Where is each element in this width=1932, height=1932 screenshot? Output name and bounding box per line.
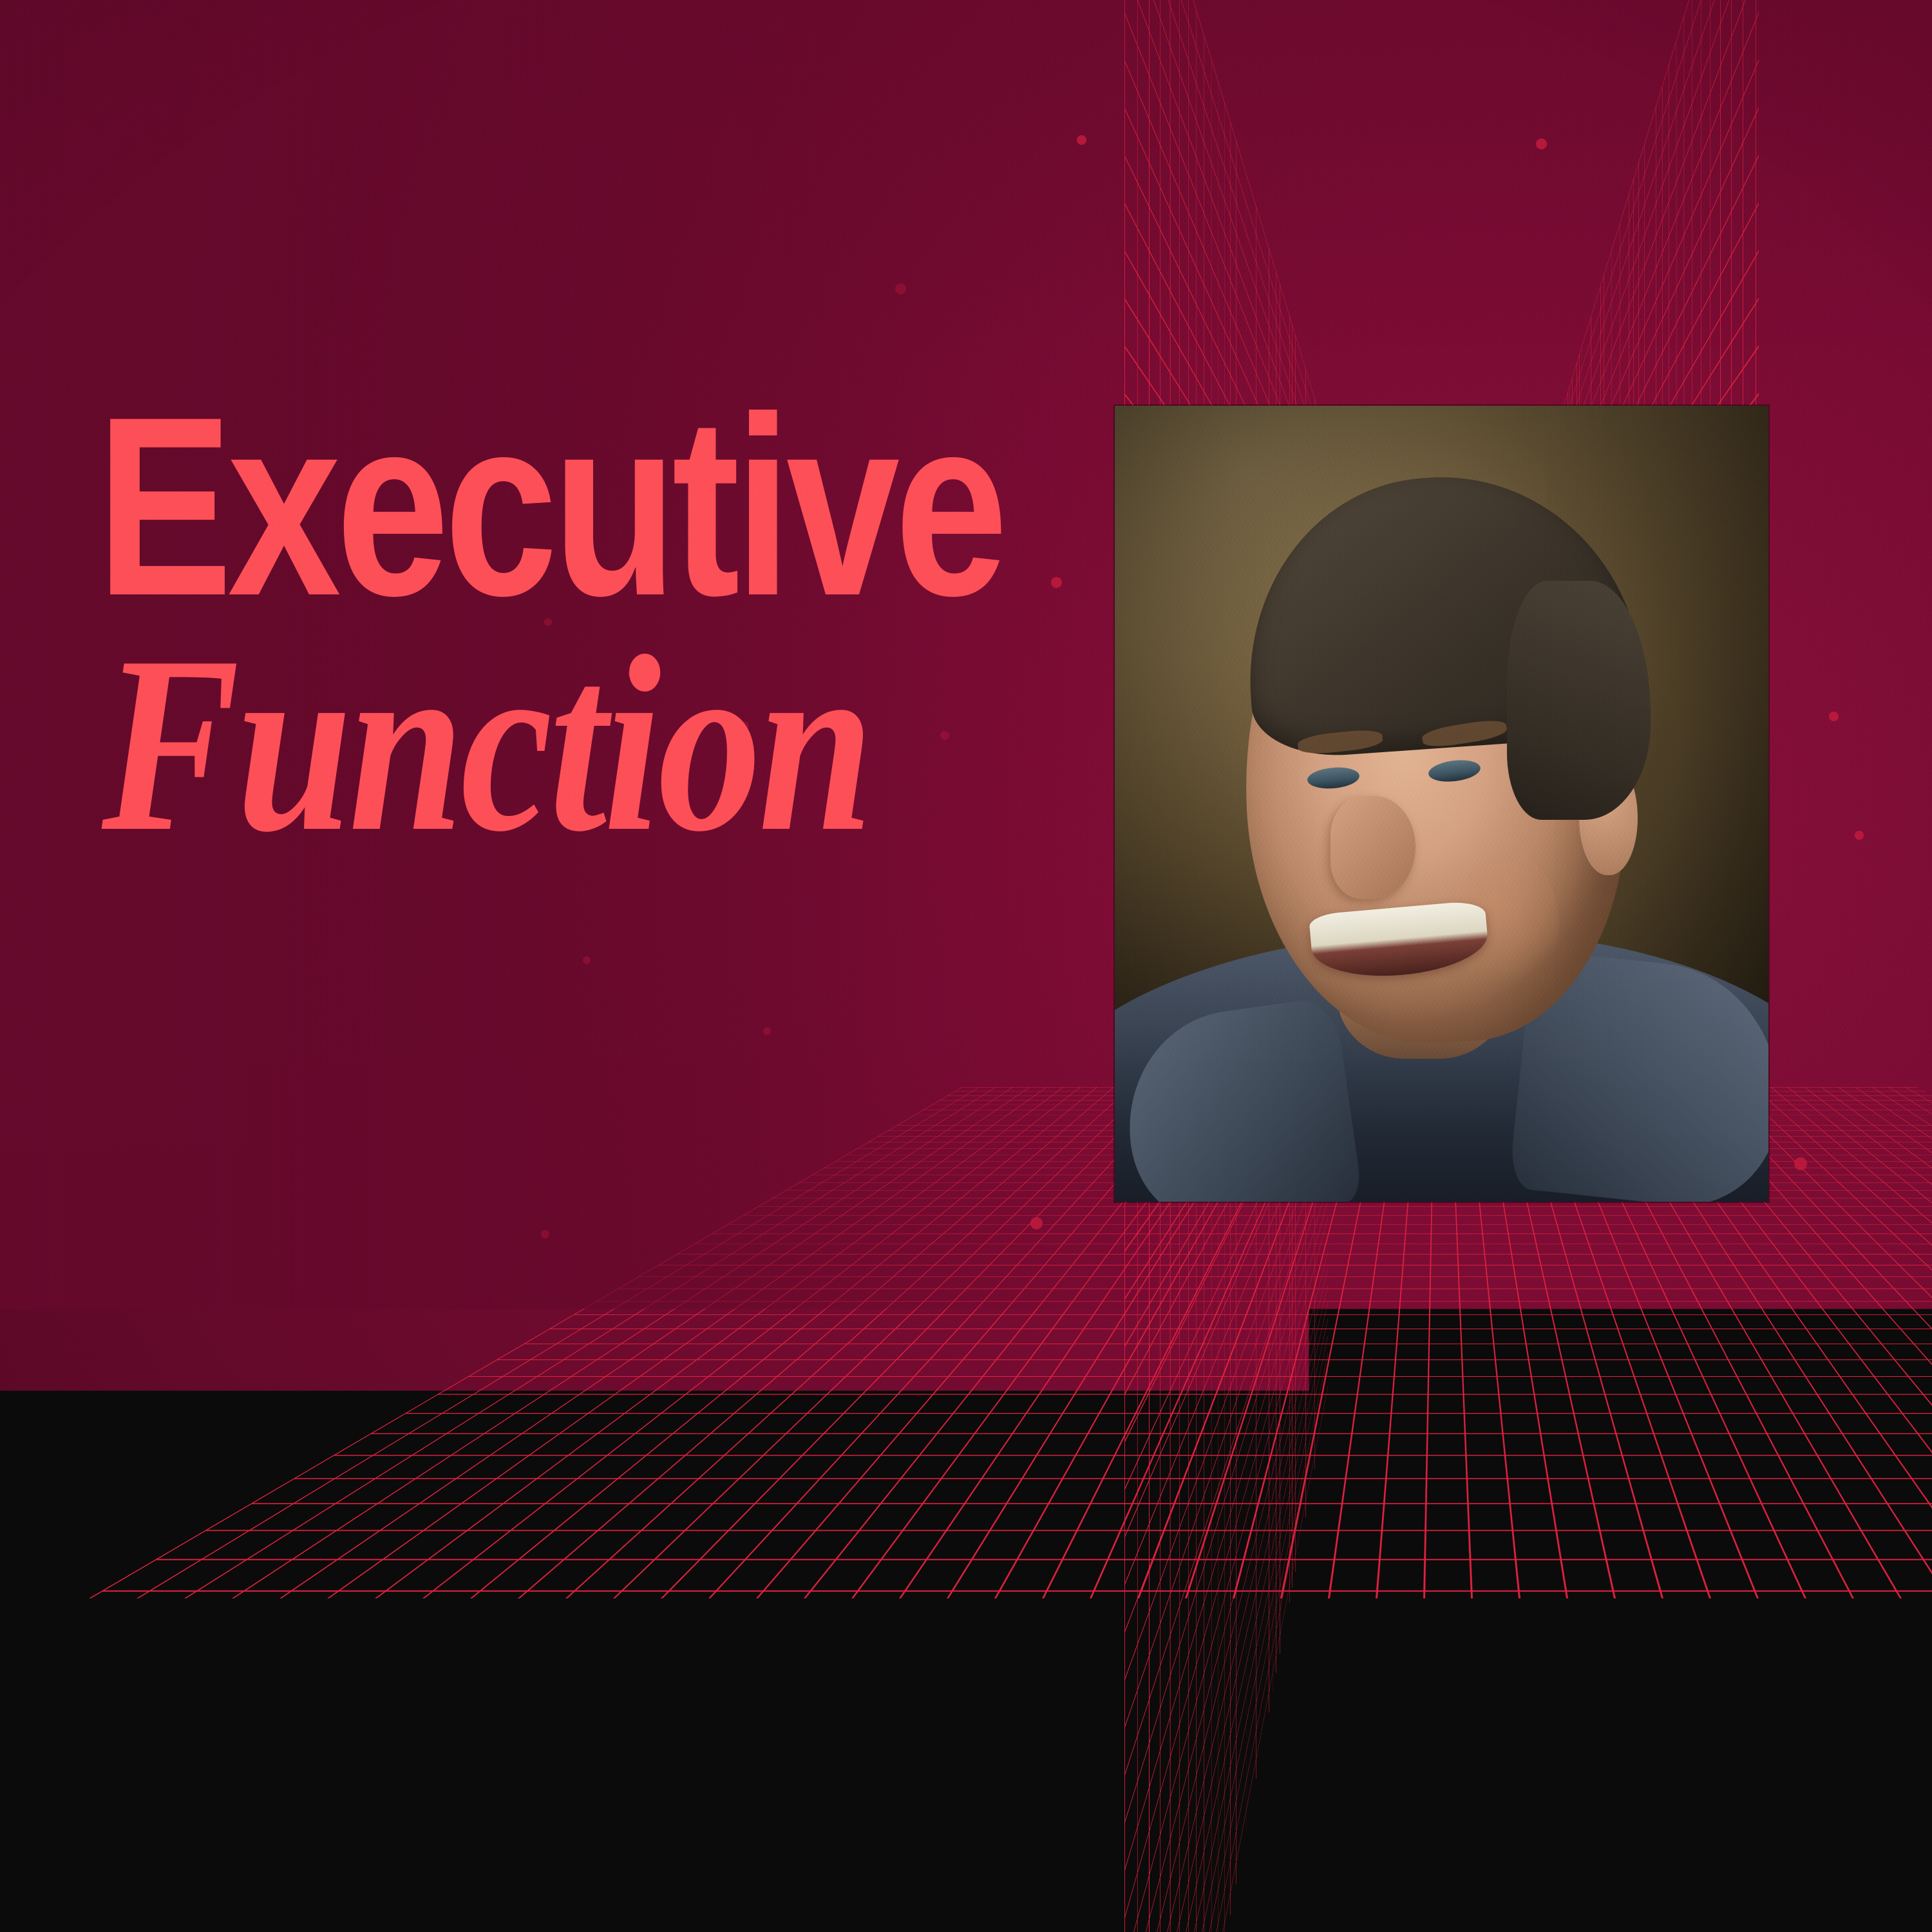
grid-dot-marker — [1649, 1333, 1658, 1343]
first-round-word-first: First — [1766, 1806, 1798, 1872]
grid-dot-marker — [1465, 1320, 1477, 1332]
show-title: Executive Function — [97, 399, 1011, 860]
first-round-wordmark: First Round — [1725, 1727, 1841, 1808]
grid-dot-marker — [1794, 1157, 1807, 1170]
grid-dot-marker — [541, 1230, 549, 1238]
grid-dot-marker — [712, 1565, 721, 1574]
show-title-line-2: Function — [102, 628, 848, 860]
grid-dot-marker — [1043, 1388, 1054, 1398]
guest-portrait-frame — [1115, 406, 1768, 1202]
grid-dot-marker — [583, 956, 591, 964]
grid-dot-marker — [895, 283, 906, 294]
grid-dot-marker — [763, 1027, 771, 1035]
grid-dot-marker — [1051, 577, 1062, 588]
grid-dot-marker — [1030, 1217, 1043, 1229]
first-round-logo: First Round — [1687, 1540, 1844, 1815]
grid-dot-marker — [1536, 138, 1547, 149]
guest-name: Chris Degnan — [68, 1671, 875, 1835]
grid-dot-marker — [1077, 135, 1086, 145]
guest-portrait-photo — [1115, 406, 1768, 1202]
grid-dot-marker — [1829, 712, 1839, 721]
photo-grain — [1115, 406, 1768, 1202]
grid-dot-marker — [1855, 831, 1864, 840]
grid-dot-marker — [1365, 1410, 1376, 1421]
first-round-word-round: Round — [1802, 1806, 1834, 1904]
show-title-line-1: Executive — [97, 399, 828, 614]
podcast-cover-art: Executive Function Chris Degnan First Ro… — [0, 0, 1932, 1932]
